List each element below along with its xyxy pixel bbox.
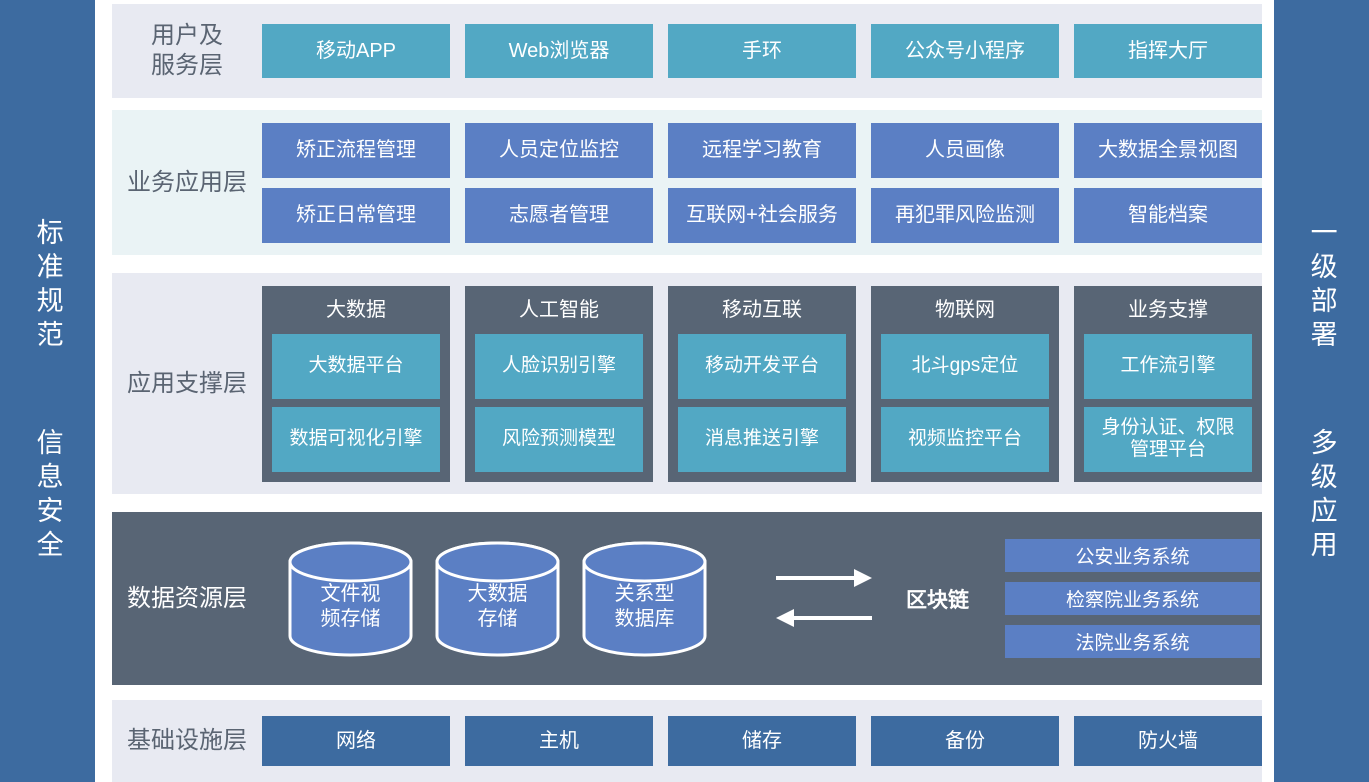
user-service-item[interactable]: Web浏览器 [465,24,653,78]
layer-infrastructure: 基础设施层 网络 主机 储存 备份 防火墙 [112,700,1262,782]
layer-business-application-title: 业务应用层 [112,168,262,198]
layer-user-service-body: 移动APP Web浏览器 手环 公众号小程序 指挥大厅 [262,24,1262,78]
business-item[interactable]: 互联网+社会服务 [668,188,856,243]
cylinder-label: 大数据 存储 [468,566,528,632]
infrastructure-item[interactable]: 主机 [465,716,653,766]
support-card-bigdata[interactable]: 大数据 大数据平台 数据可视化引擎 [262,286,450,482]
right-rail: 一级部署 多级应用 [1274,0,1369,782]
support-item[interactable]: 移动开发平台 [678,334,846,399]
database-cylinder-group: 文件视 频存储 大数据 存储 关系型 数据库 [287,540,708,658]
layer-business-application-body: 矫正流程管理 人员定位监控 远程学习教育 人员画像 大数据全景视图 矫正日常管理… [262,123,1262,243]
layer-data-resource-title: 数据资源层 [112,584,262,614]
user-service-item[interactable]: 手环 [668,24,856,78]
infrastructure-item[interactable]: 备份 [871,716,1059,766]
support-item[interactable]: 数据可视化引擎 [272,407,440,472]
business-item[interactable]: 人员定位监控 [465,123,653,178]
business-item[interactable]: 志愿者管理 [465,188,653,243]
business-item[interactable]: 再犯罪风险监测 [871,188,1059,243]
business-item[interactable]: 远程学习教育 [668,123,856,178]
support-item[interactable]: 消息推送引擎 [678,407,846,472]
external-system-item[interactable]: 法院业务系统 [1005,625,1260,658]
cylinder-label: 文件视 频存储 [321,566,381,632]
architecture-stack: 用户及 服务层 移动APP Web浏览器 手环 公众号小程序 指挥大厅 业务应用… [112,0,1262,782]
business-item[interactable]: 智能档案 [1074,188,1262,243]
layer-application-support-title: 应用支撑层 [112,369,262,399]
left-rail: 标准规范 信息安全 [0,0,95,782]
user-service-item[interactable]: 指挥大厅 [1074,24,1262,78]
layer-user-service: 用户及 服务层 移动APP Web浏览器 手环 公众号小程序 指挥大厅 [112,4,1262,98]
layer-user-service-title: 用户及 服务层 [112,21,262,81]
exchange-arrows [776,564,872,634]
user-service-row: 移动APP Web浏览器 手环 公众号小程序 指挥大厅 [262,24,1262,78]
layer-data-resource-body: 文件视 频存储 大数据 存储 关系型 数据库 [262,512,1262,685]
support-card-title: 人工智能 [475,294,643,326]
layer-infrastructure-title: 基础设施层 [112,726,262,756]
support-item[interactable]: 身份认证、权限 管理平台 [1084,407,1252,472]
support-item[interactable]: 北斗gps定位 [881,334,1049,399]
cylinder-label: 关系型 数据库 [615,566,675,632]
cylinder-relational-database[interactable]: 关系型 数据库 [581,540,708,658]
layer-application-support: 应用支撑层 大数据 大数据平台 数据可视化引擎 人工智能 人脸识别引擎 风险预测… [112,273,1262,494]
business-item[interactable]: 人员画像 [871,123,1059,178]
layer-data-resource: 数据资源层 文件视 频存储 大数据 存储 [112,512,1262,685]
business-item[interactable]: 大数据全景视图 [1074,123,1262,178]
infrastructure-item[interactable]: 网络 [262,716,450,766]
support-card-row: 大数据 大数据平台 数据可视化引擎 人工智能 人脸识别引擎 风险预测模型 移动互… [262,286,1262,482]
support-card-title: 业务支撑 [1084,294,1252,326]
cylinder-bigdata-storage[interactable]: 大数据 存储 [434,540,561,658]
user-service-item[interactable]: 移动APP [262,24,450,78]
support-item[interactable]: 视频监控平台 [881,407,1049,472]
blockchain-label: 区块链 [906,584,969,614]
layer-infrastructure-body: 网络 主机 储存 备份 防火墙 [262,716,1262,766]
arrow-right-icon [776,569,872,587]
support-card-title: 移动互联 [678,294,846,326]
business-item[interactable]: 矫正日常管理 [262,188,450,243]
user-service-item[interactable]: 公众号小程序 [871,24,1059,78]
arrow-left-icon [776,609,872,627]
left-rail-label: 标准规范 信息安全 [33,218,61,564]
business-item[interactable]: 矫正流程管理 [262,123,450,178]
business-row-2: 矫正日常管理 志愿者管理 互联网+社会服务 再犯罪风险监测 智能档案 [262,188,1262,243]
support-card-title: 物联网 [881,294,1049,326]
external-system-item[interactable]: 检察院业务系统 [1005,582,1260,615]
support-item[interactable]: 风险预测模型 [475,407,643,472]
support-card-business-support[interactable]: 业务支撑 工作流引擎 身份认证、权限 管理平台 [1074,286,1262,482]
external-systems-group: 公安业务系统 检察院业务系统 法院业务系统 [1005,539,1260,658]
right-rail-label: 一级部署 多级应用 [1307,218,1335,564]
business-row-1: 矫正流程管理 人员定位监控 远程学习教育 人员画像 大数据全景视图 [262,123,1262,178]
infrastructure-row: 网络 主机 储存 备份 防火墙 [262,716,1262,766]
cylinder-file-video-storage[interactable]: 文件视 频存储 [287,540,414,658]
support-card-mobile-internet[interactable]: 移动互联 移动开发平台 消息推送引擎 [668,286,856,482]
support-card-title: 大数据 [272,294,440,326]
support-item[interactable]: 工作流引擎 [1084,334,1252,399]
support-card-iot[interactable]: 物联网 北斗gps定位 视频监控平台 [871,286,1059,482]
support-item[interactable]: 人脸识别引擎 [475,334,643,399]
external-system-item[interactable]: 公安业务系统 [1005,539,1260,572]
support-item[interactable]: 大数据平台 [272,334,440,399]
infrastructure-item[interactable]: 防火墙 [1074,716,1262,766]
layer-business-application: 业务应用层 矫正流程管理 人员定位监控 远程学习教育 人员画像 大数据全景视图 … [112,110,1262,255]
layer-application-support-body: 大数据 大数据平台 数据可视化引擎 人工智能 人脸识别引擎 风险预测模型 移动互… [262,286,1262,482]
infrastructure-item[interactable]: 储存 [668,716,856,766]
support-card-ai[interactable]: 人工智能 人脸识别引擎 风险预测模型 [465,286,653,482]
